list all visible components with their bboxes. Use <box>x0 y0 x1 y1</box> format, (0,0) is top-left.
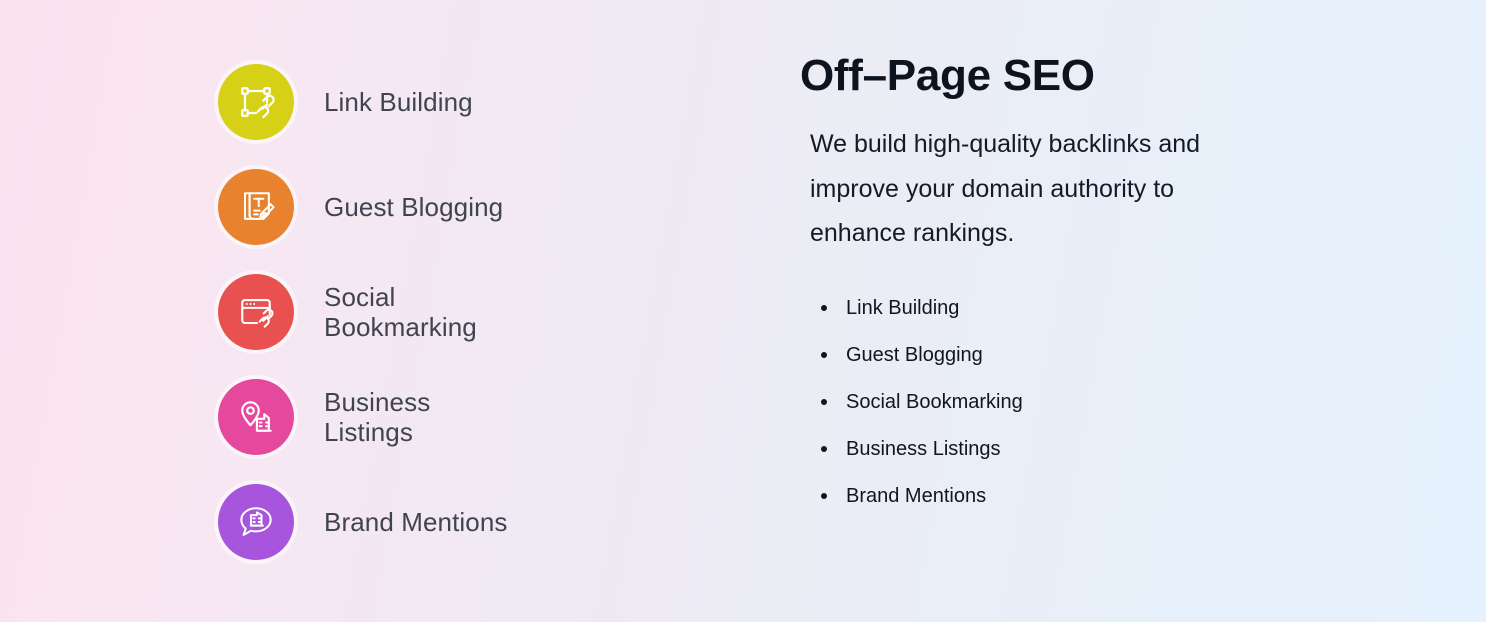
feature-label: Social Bookmarking <box>324 282 524 343</box>
social-bookmarking-icon-badge <box>218 274 294 350</box>
list-item: Brand Mentions <box>814 484 1360 508</box>
business-listings-icon <box>234 395 278 439</box>
detail-panel: Off–Page SEO We build high-quality backl… <box>800 52 1360 508</box>
feature-item-business-listings[interactable]: Business Listings <box>218 379 758 455</box>
list-item: Link Building <box>814 296 1360 320</box>
list-item: Business Listings <box>814 437 1360 461</box>
feature-list: Link Building Guest Blogging <box>218 64 758 560</box>
feature-item-brand-mentions[interactable]: Brand Mentions <box>218 484 758 560</box>
panel-description: We build high-quality backlinks and impr… <box>800 122 1255 256</box>
off-page-seo-section: Link Building Guest Blogging <box>0 0 1486 622</box>
business-listings-icon-badge <box>218 379 294 455</box>
feature-label: Link Building <box>324 87 473 117</box>
panel-service-list: Link Building Guest Blogging Social Book… <box>800 296 1360 508</box>
page-title: Off–Page SEO <box>800 52 1360 100</box>
brand-mentions-icon-badge <box>218 484 294 560</box>
guest-blogging-icon-badge <box>218 169 294 245</box>
social-bookmarking-icon <box>234 290 278 334</box>
feature-item-link-building[interactable]: Link Building <box>218 64 758 140</box>
feature-item-social-bookmarking[interactable]: Social Bookmarking <box>218 274 758 350</box>
feature-label: Brand Mentions <box>324 507 508 537</box>
link-building-icon <box>234 80 278 124</box>
guest-blogging-icon <box>234 185 278 229</box>
feature-label: Guest Blogging <box>324 192 503 222</box>
brand-mentions-icon <box>234 500 278 544</box>
feature-item-guest-blogging[interactable]: Guest Blogging <box>218 169 758 245</box>
feature-label: Business Listings <box>324 387 524 448</box>
list-item: Social Bookmarking <box>814 390 1360 414</box>
list-item: Guest Blogging <box>814 343 1360 367</box>
link-building-icon-badge <box>218 64 294 140</box>
